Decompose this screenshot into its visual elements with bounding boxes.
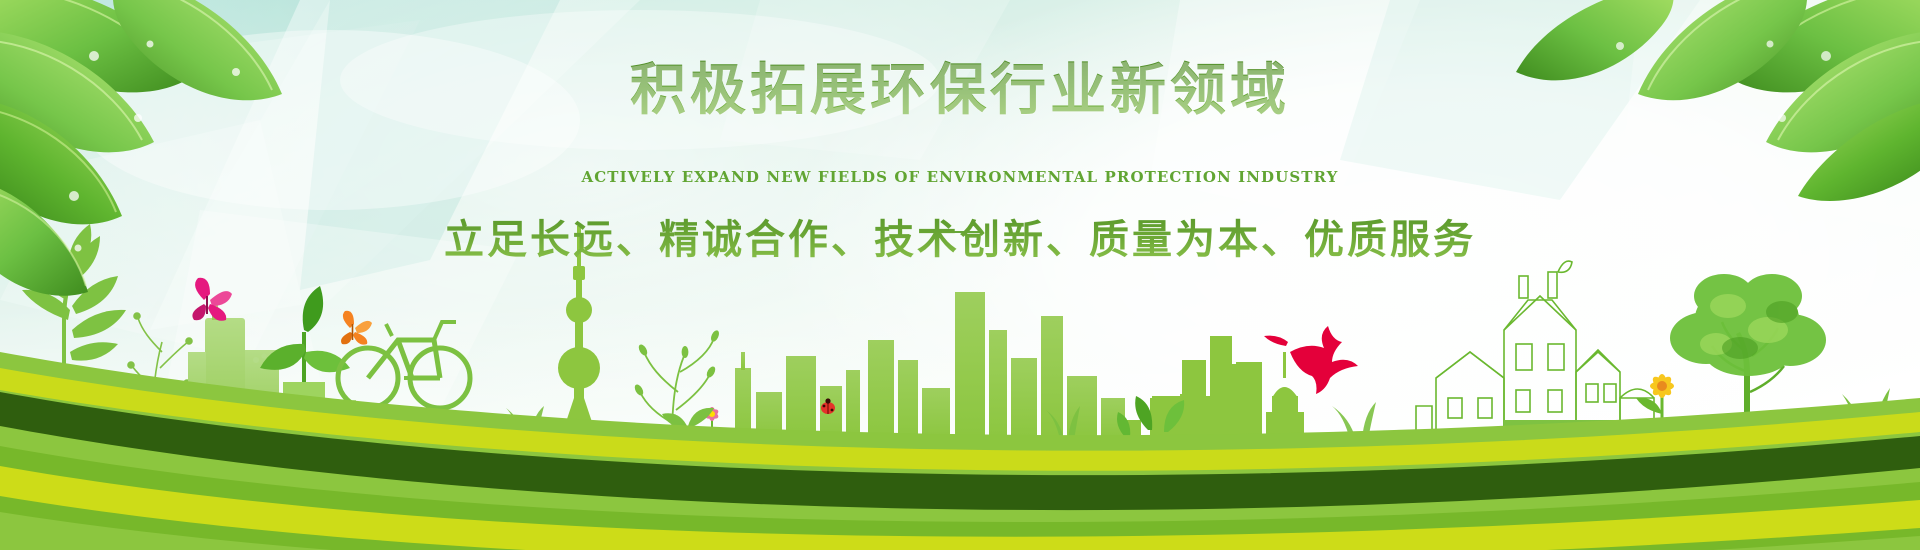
tree-icon [1670, 274, 1826, 448]
oriental-pearl-tower-icon [558, 226, 600, 440]
house-base-fill [1436, 420, 1654, 442]
twig-icon [128, 313, 192, 430]
corner-leaves-layer [0, 0, 1920, 550]
wave-yellow-accent [0, 368, 1920, 471]
grass-icon [134, 384, 192, 440]
leaf-icon [662, 408, 714, 430]
wave-dark-green [0, 392, 1920, 510]
subtitle-english: ACTIVELY EXPAND NEW FIELDS OF ENVIRONMEN… [0, 168, 1920, 186]
wave-mid-green [0, 446, 1920, 550]
city-skyline-icon [188, 300, 356, 440]
ladybug-icon [821, 398, 835, 414]
city-skyline-icon [1158, 336, 1304, 440]
butterfly-icon [192, 278, 232, 321]
leaves-cluster-icon [1516, 0, 1920, 201]
flower-icon [704, 407, 720, 440]
butterfly-icon [341, 311, 372, 345]
city-window-icon [253, 354, 267, 371]
wave-bottom-green [0, 512, 1920, 550]
leaves-cluster-icon [0, 0, 282, 296]
tree-icon [22, 224, 126, 440]
title-divider [938, 231, 982, 233]
wave-yellow-green [0, 466, 1920, 550]
twig-icon [640, 338, 714, 440]
flower-icon [1636, 374, 1674, 440]
bud-icon [633, 329, 721, 397]
tagline: 立足长远、精诚合作、技术创新、质量为本、优质服务 [0, 216, 1920, 264]
bicycle-icon [338, 322, 470, 408]
bird-icon [1264, 326, 1358, 394]
sprout-icon [260, 286, 350, 440]
landmark-tower-icon [1266, 352, 1304, 440]
eco-banner: 积极拓展环保行业新领域 ACTIVELY EXPAND NEW FIELDS O… [0, 0, 1920, 550]
wave-light-green [0, 352, 1920, 550]
grass-icon [506, 402, 1376, 440]
flower-icon [218, 393, 242, 440]
city-skyline-icon [735, 292, 1125, 440]
house-window-row [1516, 426, 1614, 436]
sprout-icon [1117, 396, 1184, 438]
city-skyline-icon [1125, 364, 1253, 440]
page-title: 积极拓展环保行业新领域 [0, 58, 1920, 122]
scenery-layer [0, 0, 1920, 550]
background-facets [0, 0, 1920, 550]
house-outline-icon [1416, 261, 1654, 440]
grass-icon [1822, 388, 1914, 448]
wave-ribbons [0, 0, 1920, 550]
